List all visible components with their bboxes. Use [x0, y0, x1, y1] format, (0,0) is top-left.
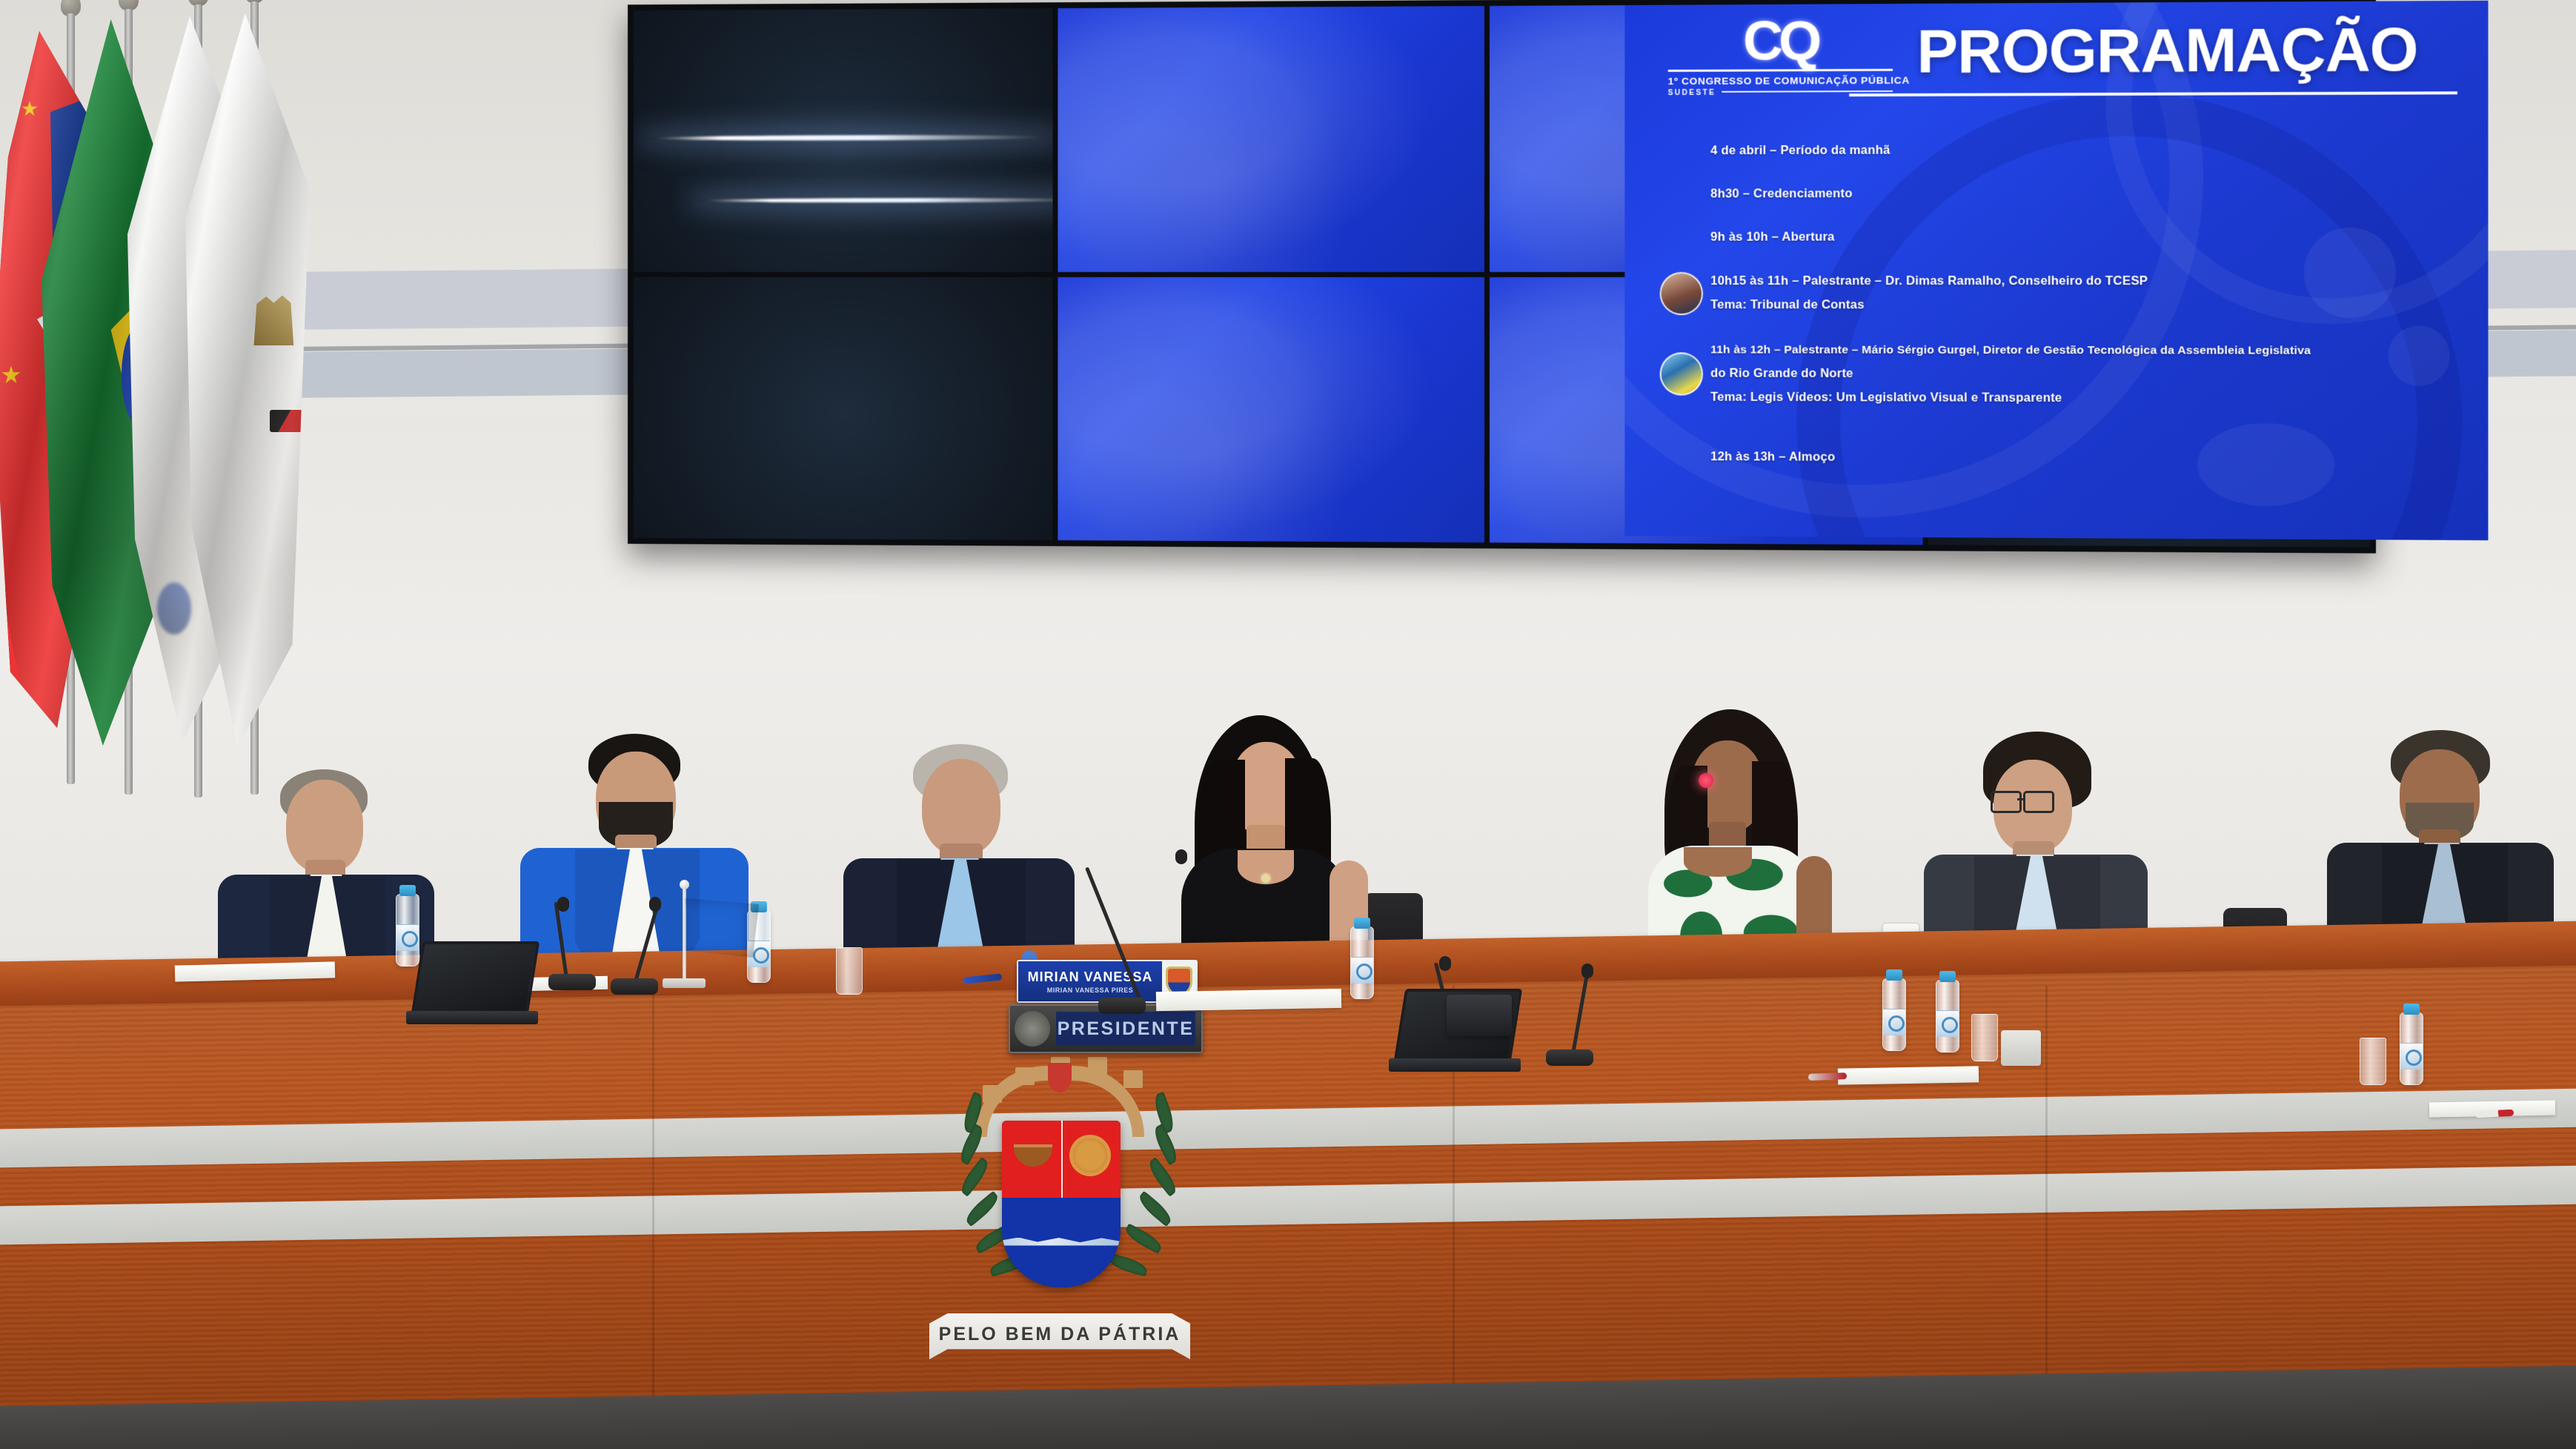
desk-control-unit[interactable] — [1447, 995, 1512, 1036]
plenary-hall-photo: CQ 1º CONGRESSO DE COMUNICAÇÃO PÚBLICA S… — [0, 0, 2576, 1449]
congress-logo-line2: SUDESTE — [1668, 88, 1716, 96]
water-bottle-3[interactable] — [1350, 926, 1374, 999]
video-wall: CQ 1º CONGRESSO DE COMUNICAÇÃO PÚBLICA S… — [628, 0, 2376, 554]
drinking-glass-1[interactable] — [836, 947, 863, 995]
heraldic-shield — [1002, 1121, 1121, 1287]
water-bottle-6[interactable] — [2400, 1012, 2423, 1085]
schedule-item-0: 4 de abril – Período da manhã — [1710, 136, 2469, 162]
motto-text: PELO BEM DA PÁTRIA — [929, 1324, 1190, 1345]
slide-schedule-list: 4 de abril – Período da manhã 8h30 – Cre… — [1710, 136, 2469, 471]
president-nameplate-label: PRESIDENTE — [1056, 1012, 1195, 1046]
schedule-item-7: Tema: Legis Vídeos: Um Legislativo Visua… — [1710, 385, 2469, 411]
president-nameplate-emblem-icon — [1015, 1011, 1050, 1047]
video-wall-panel-1 — [634, 8, 1053, 271]
water-bottle-1[interactable] — [396, 894, 419, 966]
video-wall-panel-5 — [634, 276, 1053, 540]
water-bottle-4[interactable] — [1882, 978, 1906, 1051]
schedule-item-5: 11h às 12h – Palestrante – Mário Sérgio … — [1710, 339, 2469, 362]
papers-4 — [1838, 1066, 1979, 1084]
motto-ribbon: PELO BEM DA PÁTRIA — [929, 1313, 1190, 1359]
schedule-item-2: 9h às 10h – Abertura — [1710, 225, 2469, 249]
video-wall-panel-6-slide-left — [1058, 276, 1484, 543]
speaker-photo-mario-icon — [1660, 352, 1703, 395]
presentation-slide: CQ 1º CONGRESSO DE COMUNICAÇÃO PÚBLICA S… — [1624, 1, 2488, 540]
pen-3[interactable] — [1808, 1072, 1847, 1081]
papers-3 — [1156, 989, 1341, 1011]
water-bottle-5[interactable] — [1936, 980, 1959, 1052]
speaker-photo-dimas-icon — [1660, 272, 1703, 315]
video-wall-panel-2-slide-left — [1058, 6, 1484, 272]
neckline-skin — [1684, 847, 1752, 877]
lens-flare — [1699, 773, 1713, 788]
schedule-item-1: 8h30 – Credenciamento — [1710, 181, 2469, 206]
glasses-icon — [1991, 791, 2053, 810]
slide-title: PROGRAMAÇÃO — [1917, 15, 2418, 87]
drinking-glass-2[interactable] — [1971, 1014, 1998, 1061]
crown-crest-icon — [1048, 1063, 1072, 1092]
schedule-item-4: Tema: Tribunal de Contas — [1710, 293, 2469, 317]
desk-seam-3 — [2045, 986, 2048, 1401]
nameplate-crest-icon — [1168, 969, 1190, 994]
desk-seam-1 — [652, 986, 654, 1401]
municipal-coat-of-arms: PELO BEM DA PÁTRIA — [912, 1052, 1208, 1379]
panel-desk: PELO BEM DA PÁTRIA MIRIAN VANESSA MIRIAN… — [0, 941, 2576, 1449]
necklace-pendant — [1261, 874, 1270, 883]
drinking-glass-3[interactable] — [2360, 1038, 2386, 1085]
schedule-item-8: 12h às 13h – Almoço — [1710, 445, 2469, 471]
speaker-nameplate-subtitle: MIRIAN VANESSA PIRES — [1047, 987, 1134, 994]
schedule-item-3: 10h15 às 11h – Palestrante – Dr. Dimas R… — [1710, 268, 2469, 293]
schedule-item-6: do Rio Grande do Norte — [1710, 362, 2469, 388]
cq-logo-mark: CQ — [1668, 16, 1893, 66]
congress-logo: CQ 1º CONGRESSO DE COMUNICAÇÃO PÚBLICA S… — [1668, 16, 1893, 97]
congress-logo-line1: 1º CONGRESSO DE COMUNICAÇÃO PÚBLICA — [1668, 74, 1893, 86]
sun-charge-icon — [1073, 1138, 1107, 1173]
river-charge-icon — [1002, 1238, 1121, 1246]
desk-card-holder — [2001, 1030, 2041, 1066]
